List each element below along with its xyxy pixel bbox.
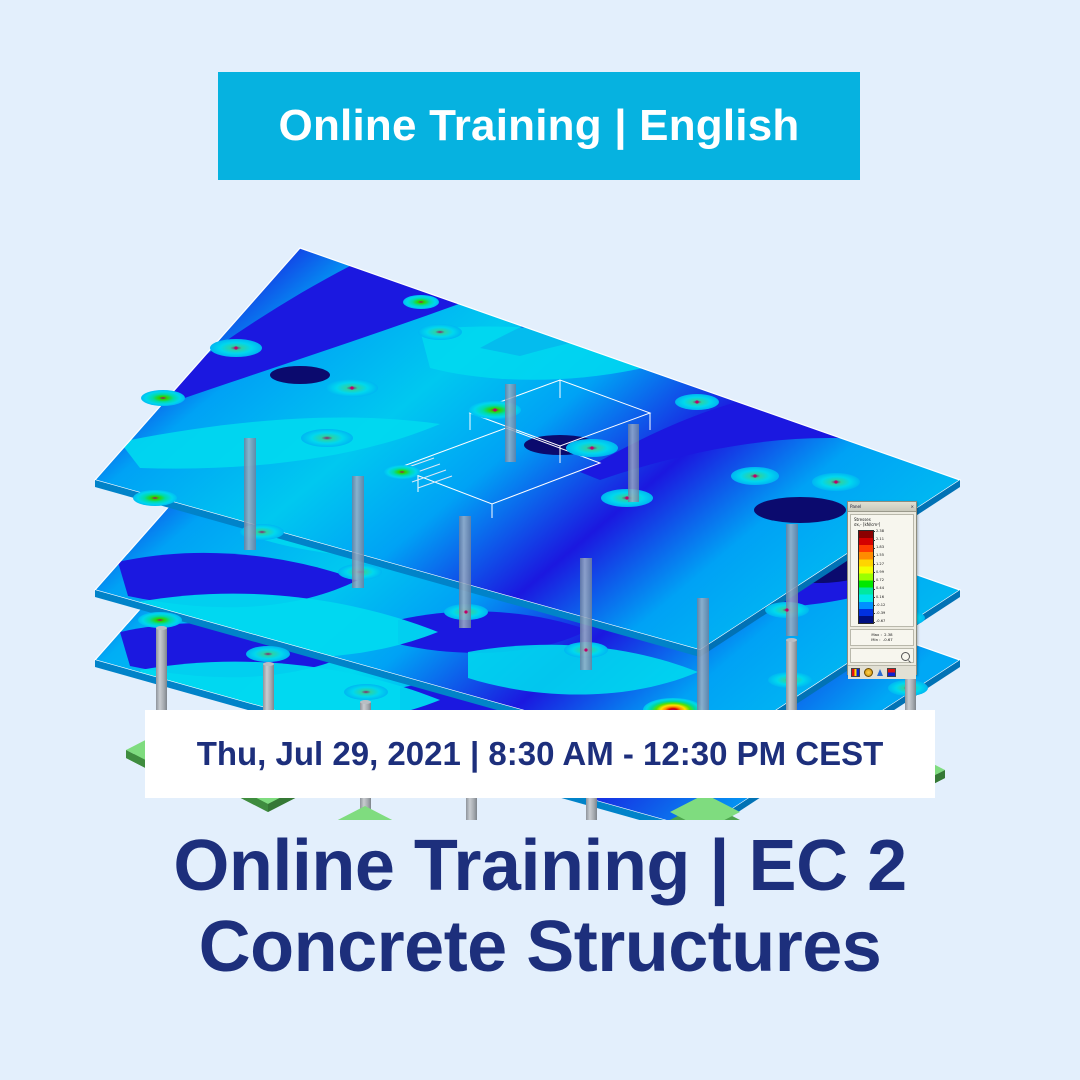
legend-value: -0.39 <box>876 612 885 616</box>
legend-value: 0.99 <box>876 571 885 575</box>
legend-value: 2.11 <box>876 538 885 542</box>
legend-value-labels: 2.382.111.831.551.270.990.720.440.16-0.1… <box>876 530 885 624</box>
legend-color-bar <box>858 530 874 624</box>
online-training-banner: Online Training | English <box>218 72 860 180</box>
legend-toolbar[interactable] <box>848 665 916 679</box>
legend-value: -0.12 <box>876 604 885 608</box>
legend-value: 0.16 <box>876 596 885 600</box>
legend-component: σx,- [kN/cm²] <box>854 522 910 527</box>
legend-zoom-row[interactable] <box>850 648 914 663</box>
legend-min-row: Min : -0.67 <box>854 637 910 643</box>
legend-value: 1.27 <box>876 563 885 567</box>
banner-label: Online Training | English <box>279 101 800 151</box>
legend-color-scale: 2.382.111.831.551.270.990.720.440.16-0.1… <box>854 530 910 624</box>
legend-value: 0.72 <box>876 579 885 583</box>
close-icon[interactable]: × <box>910 504 914 509</box>
magnifier-icon[interactable] <box>901 652 910 661</box>
legend-value: 2.38 <box>876 530 885 534</box>
date-time-label: Thu, Jul 29, 2021 | 8:30 AM - 12:30 PM C… <box>197 735 884 773</box>
legend-value: -0.67 <box>876 620 885 624</box>
course-title-line-2: Concrete Structures <box>0 907 1080 988</box>
legend-value: 1.55 <box>876 554 885 558</box>
legend-title-bar[interactable]: Panel × <box>848 502 916 512</box>
date-time-bar: Thu, Jul 29, 2021 | 8:30 AM - 12:30 PM C… <box>145 710 935 798</box>
course-title-block: Online Training | EC 2 Concrete Structur… <box>0 826 1080 987</box>
results-legend-panel[interactable]: Panel × Stresses σx,- [kN/cm²] 2.382.111… <box>847 501 917 675</box>
legend-value: 1.83 <box>876 546 885 550</box>
course-title-line-1: Online Training | EC 2 <box>0 826 1080 907</box>
globe-icon[interactable] <box>864 668 873 677</box>
legend-value: 0.44 <box>876 587 885 591</box>
legend-body: Stresses σx,- [kN/cm²] 2.382.111.831.551… <box>850 514 914 627</box>
triangle-icon[interactable] <box>877 669 883 676</box>
legend-min-max: Max : 2.38 Min : -0.67 <box>850 629 914 646</box>
color-palette-icon[interactable] <box>851 668 860 677</box>
legend-window-title: Panel <box>850 504 861 509</box>
color-bars-icon[interactable] <box>887 668 896 677</box>
